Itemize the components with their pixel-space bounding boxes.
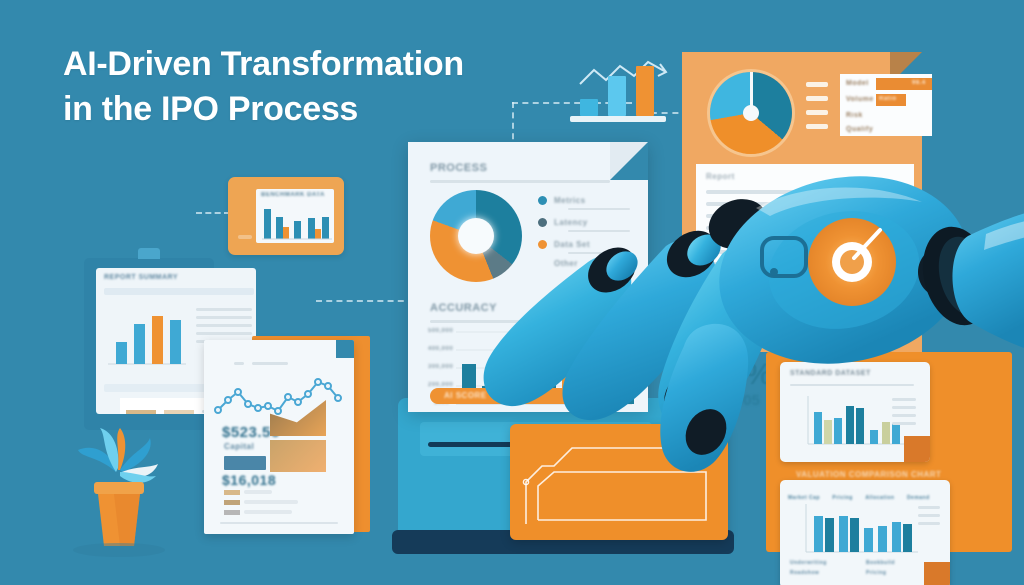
doc-gradient-block-bottom	[270, 440, 326, 472]
axis-label: 300,000	[428, 364, 453, 370]
float-chart-bar-2	[608, 76, 626, 116]
desktop-report-screen: REPORT SUMMARY	[84, 258, 214, 430]
table-row-label-1: Volume	[846, 96, 874, 103]
subcard-swatch	[126, 410, 156, 414]
float-bar-chart-icon	[570, 60, 670, 122]
footnote: Roadshow	[790, 570, 819, 576]
footnote: Pricing	[866, 570, 886, 576]
table-row-value-1: Ratio	[879, 96, 897, 102]
figure-secondary: $16,018	[222, 472, 276, 488]
panel-tick-3	[806, 110, 828, 115]
figure-primary-caption: Capital	[224, 442, 254, 451]
card-fold-ear	[924, 562, 950, 585]
headline-line-1: AI-Driven Transformation	[63, 45, 464, 83]
legend-line	[918, 522, 940, 525]
plant-graphic	[62, 420, 172, 560]
connector-monitor-to-doc	[316, 300, 414, 302]
figure-bar	[224, 456, 266, 470]
tablet-heading: BENCHMARK DATA	[261, 192, 325, 198]
tablet-chart	[260, 203, 332, 241]
doc-legend-line	[244, 500, 298, 504]
table-row-label-0: Model	[846, 80, 869, 87]
tablet-home-indicator	[238, 235, 252, 239]
illustration-canvas: AI-Driven Transformation in the IPO Proc…	[0, 0, 1024, 585]
float-chart-bar-1	[580, 99, 598, 116]
comparison-card: Market Cap Pricing Allocation Demand	[780, 480, 950, 585]
monitor-rule	[104, 288, 254, 295]
monitor-text-line	[196, 308, 252, 311]
axis-label: 500,000	[428, 328, 453, 334]
monitor-text-line	[196, 324, 252, 327]
robotic-hand	[470, 150, 1024, 480]
panel-tick-4	[806, 124, 828, 129]
monitor-text-line	[196, 316, 252, 319]
trend-line-icon	[576, 56, 676, 98]
robot-hand-graphic	[470, 150, 1024, 480]
doc-legend-line	[244, 510, 292, 514]
footnote: Underwriting	[790, 560, 827, 566]
legend-line	[918, 506, 940, 509]
doc-header-line	[234, 362, 244, 365]
doc-legend-line	[244, 490, 272, 494]
doc-legend-swatch	[224, 510, 240, 515]
float-chart-baseline	[570, 116, 666, 122]
comparison-card-chart	[792, 500, 922, 556]
tablet-screen: BENCHMARK DATA	[256, 189, 334, 243]
doc-header-line	[252, 362, 288, 365]
monitor-text-line	[196, 332, 252, 335]
analytics-pie-chart	[710, 72, 792, 154]
panel-tick-2	[806, 96, 828, 101]
monitor-chart	[106, 302, 190, 368]
pie-divider-1	[750, 72, 753, 113]
panel-tick-1	[806, 82, 828, 87]
connector-tablet-to-doc	[196, 212, 230, 214]
subcard-swatch	[164, 410, 194, 414]
panel-tick-rows	[806, 82, 828, 129]
page-title: AI-Driven Transformation in the IPO Proc…	[63, 42, 533, 132]
float-chart-bar-3	[636, 66, 654, 116]
document-fold-corner	[336, 340, 354, 358]
doc-legend-swatch	[224, 500, 240, 505]
monitor-neck	[138, 248, 160, 259]
doc-footer-rule	[220, 522, 338, 524]
comparison-card-legend	[918, 506, 940, 525]
axis-label: 400,000	[428, 346, 453, 352]
monitor-heading: REPORT SUMMARY	[104, 274, 178, 281]
table-row-value-0: 98.4	[912, 80, 926, 86]
financial-summary-document: $523.56 Capital $16,018	[204, 340, 354, 534]
headline-line-2: in the IPO Process	[63, 87, 533, 132]
footnote: Bookbuild	[866, 560, 895, 566]
legend-line	[918, 514, 940, 517]
desk-plant	[62, 420, 172, 560]
table-row-label-3: Qualify	[846, 126, 873, 133]
table-row-label-2: Risk	[846, 112, 863, 119]
doc-legend-swatch	[224, 490, 240, 495]
tablet-bar-chart-card: BENCHMARK DATA	[228, 177, 344, 255]
panel-table-card: Model Volume Risk Qualify 98.4 Ratio	[840, 74, 932, 136]
